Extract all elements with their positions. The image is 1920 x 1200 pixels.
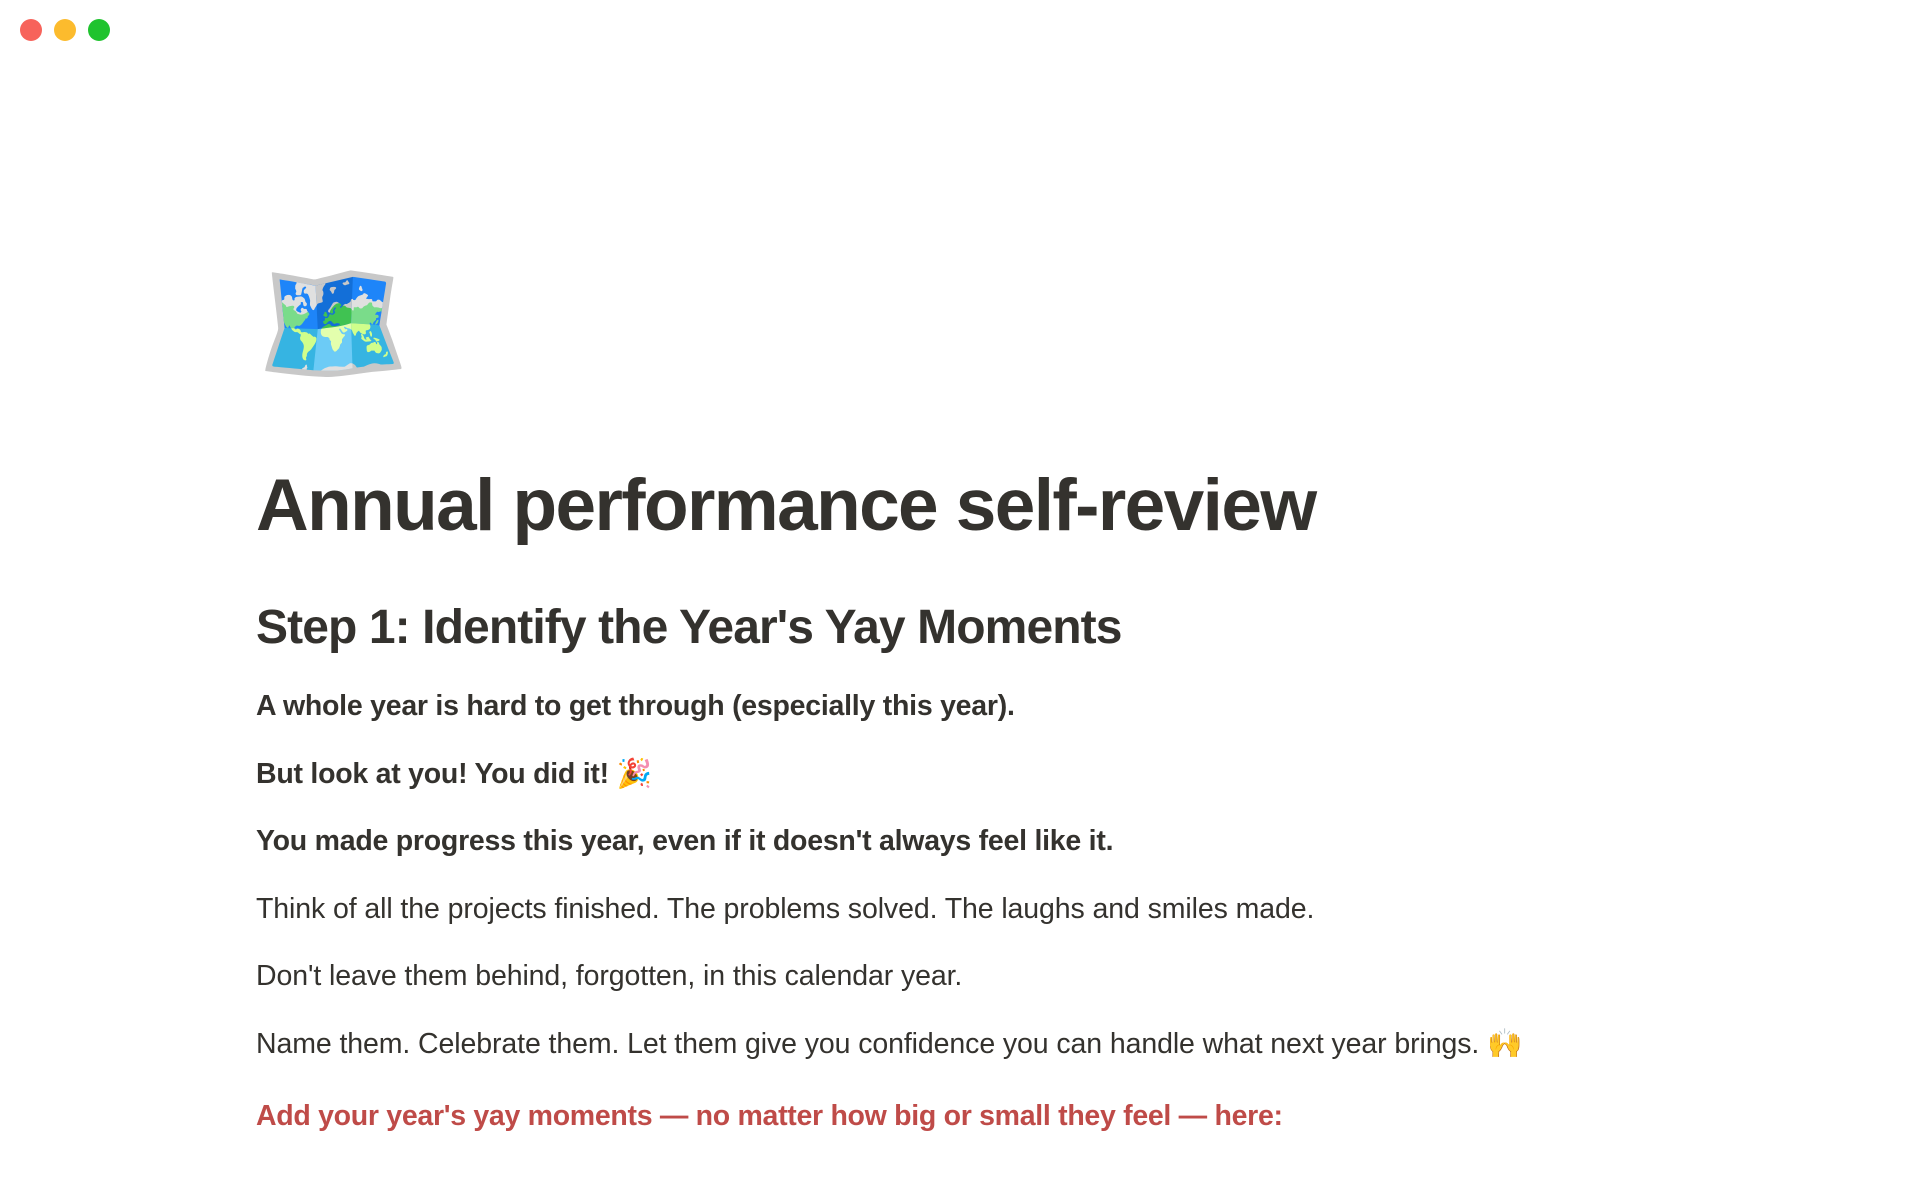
- paragraph-4[interactable]: Think of all the projects finished. The …: [256, 890, 1676, 928]
- document-canvas[interactable]: 🗺️ Annual performance self-review Step 1…: [0, 62, 1920, 1200]
- minimize-button[interactable]: [54, 19, 76, 41]
- document-body: 🗺️ Annual performance self-review Step 1…: [256, 62, 1676, 1136]
- window-title-bar: [0, 0, 1920, 62]
- paragraph-5[interactable]: Don't leave them behind, forgotten, in t…: [256, 957, 1676, 995]
- paragraph-7-callout[interactable]: Add your year's yay moments — no matter …: [256, 1097, 1676, 1135]
- traffic-light-group: [20, 19, 110, 41]
- paragraph-2[interactable]: But look at you! You did it! 🎉: [256, 755, 1676, 793]
- page-title[interactable]: Annual performance self-review: [256, 466, 1676, 546]
- paragraph-3[interactable]: You made progress this year, even if it …: [256, 822, 1676, 860]
- paragraph-6[interactable]: Name them. Celebrate them. Let them give…: [256, 1025, 1676, 1063]
- paragraph-1[interactable]: A whole year is hard to get through (esp…: [256, 687, 1676, 725]
- world-map-emoji-icon[interactable]: 🗺️: [256, 262, 416, 410]
- close-button[interactable]: [20, 19, 42, 41]
- maximize-button[interactable]: [88, 19, 110, 41]
- section-heading-step-1[interactable]: Step 1: Identify the Year's Yay Moments: [256, 600, 1676, 655]
